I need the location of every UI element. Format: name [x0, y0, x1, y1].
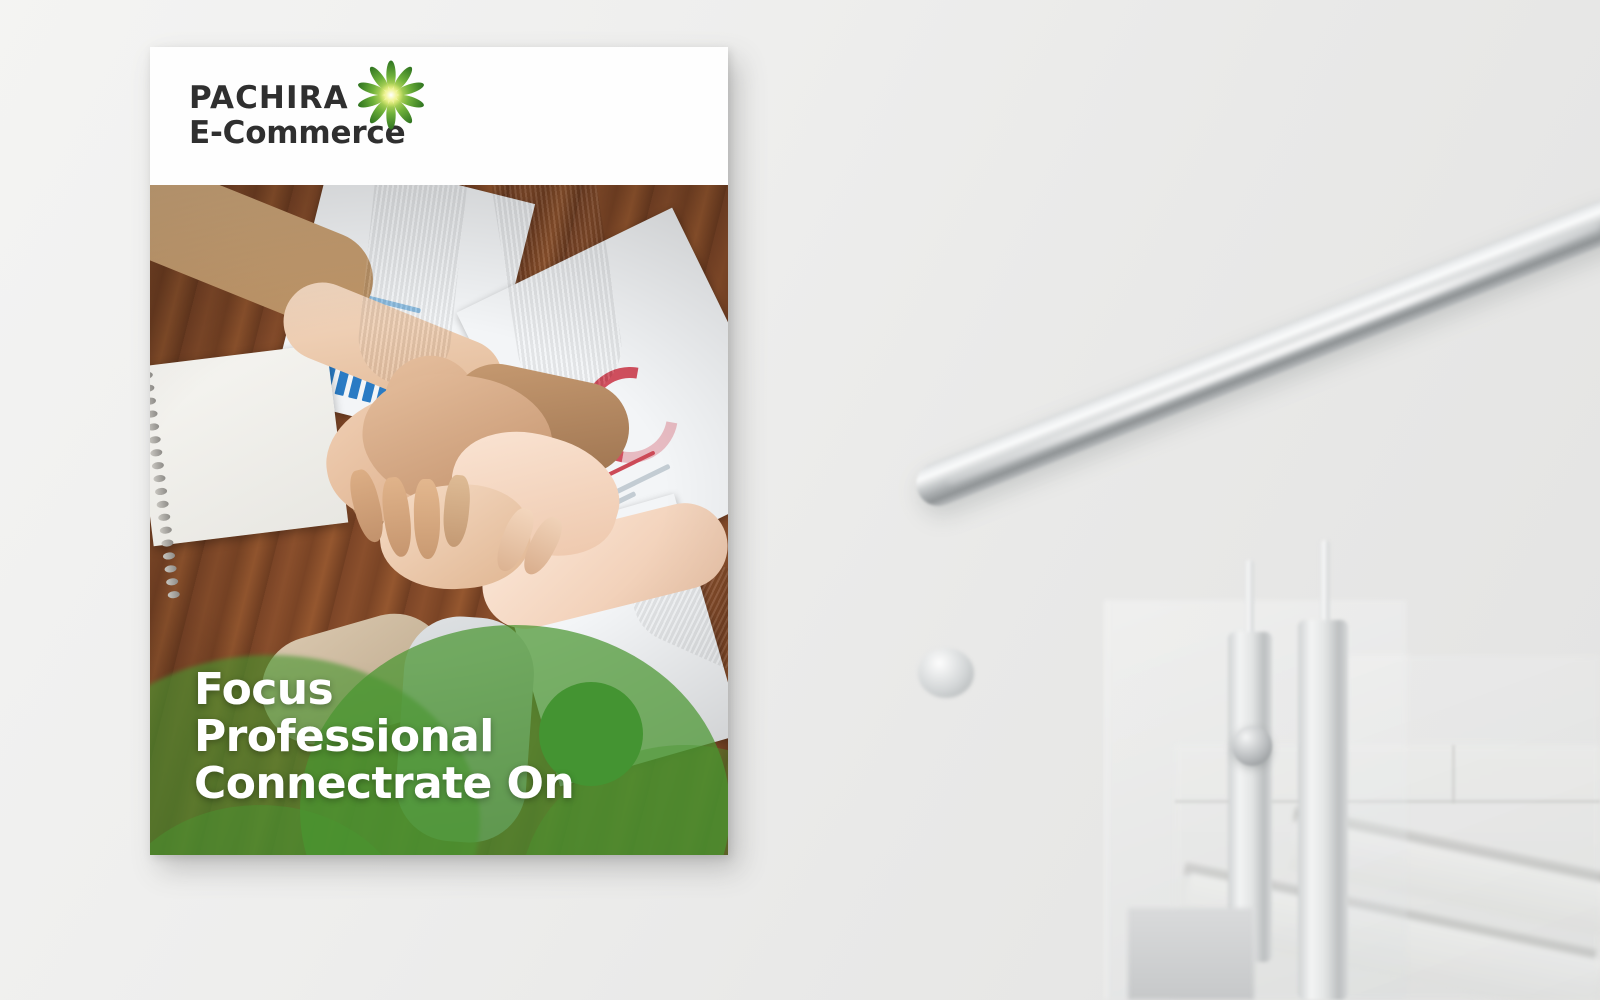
headline-line-2: Professional [194, 713, 574, 760]
glass-balustrade-panel [1330, 655, 1600, 1000]
flower-starburst-icon [355, 59, 427, 131]
brand-logo: PACHIRA E-Commerce [189, 81, 405, 151]
cover-headline: Focus Professional Connectrate On [194, 666, 574, 807]
balustrade-post [1298, 620, 1348, 1000]
headline-line-3: Connectrate On [194, 760, 574, 807]
post-ball-fitting [1232, 726, 1272, 766]
handrail-end-cap [918, 648, 974, 698]
post-base-plate [1128, 908, 1254, 1000]
brochure-card[interactable]: PACHIRA E-Commerce [150, 47, 728, 855]
brochure-header: PACHIRA E-Commerce [150, 47, 728, 185]
headline-line-1: Focus [194, 666, 574, 713]
scene-root: PACHIRA E-Commerce [0, 0, 1600, 1000]
